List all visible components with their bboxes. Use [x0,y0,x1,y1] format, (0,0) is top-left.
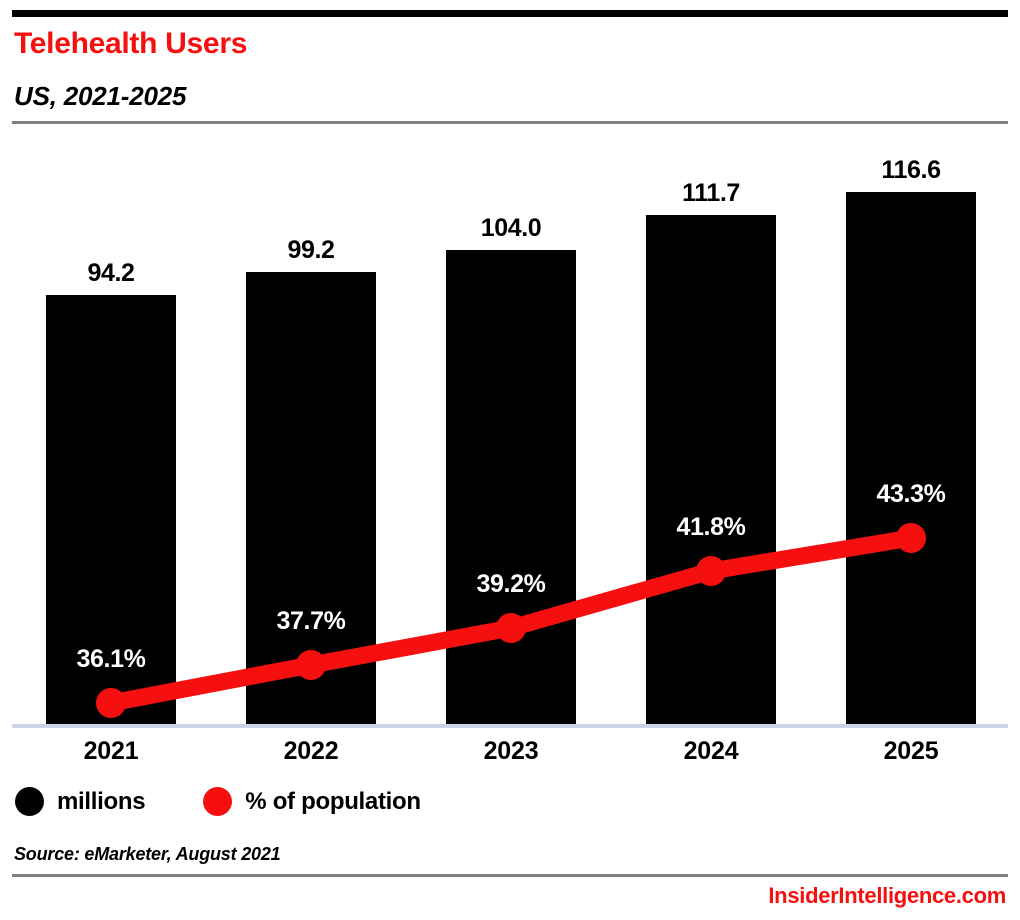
x-tick-2025: 2025 [846,737,976,766]
bar-2022 [246,272,376,726]
source-note: Source: eMarketer, August 2021 [14,844,280,865]
brand-link[interactable]: InsiderIntelligence.com [768,883,1006,909]
legend-label-percent: % of population [245,788,420,816]
x-tick-2021: 2021 [46,737,176,766]
chart-subtitle: US, 2021-2025 [14,80,186,112]
header-divider [12,121,1008,124]
legend: millions % of population [15,787,421,816]
bar-2023 [446,250,576,726]
percent-value-label-2022: 37.7% [231,607,391,636]
percent-value-label-2024: 41.8% [631,513,791,542]
bar-value-label-2024: 111.7 [646,179,776,208]
plot-area: 94.299.2104.0111.7116.6 [0,130,1020,730]
bar-value-label-2022: 99.2 [246,236,376,265]
percent-value-label-2025: 43.3% [831,480,991,509]
x-axis-line [12,724,1008,728]
bar-value-label-2025: 116.6 [846,156,976,185]
legend-dot-percent-icon [203,787,232,816]
bar-2024 [646,215,776,726]
bar-value-label-2021: 94.2 [46,259,176,288]
chart-page: Telehealth Users US, 2021-2025 94.299.21… [0,0,1020,920]
top-rule [12,10,1008,17]
bar-2025 [846,192,976,726]
legend-label-millions: millions [57,788,145,816]
bar-value-label-2023: 104.0 [446,214,576,243]
x-tick-2024: 2024 [646,737,776,766]
legend-item-millions[interactable]: millions [15,787,145,816]
page-title: Telehealth Users [14,26,247,62]
footer-divider [12,874,1008,877]
x-tick-2022: 2022 [246,737,376,766]
percent-value-label-2021: 36.1% [31,645,191,674]
percent-value-label-2023: 39.2% [431,570,591,599]
legend-dot-millions-icon [15,787,44,816]
x-tick-2023: 2023 [446,737,576,766]
legend-item-percent-of-population[interactable]: % of population [203,787,420,816]
